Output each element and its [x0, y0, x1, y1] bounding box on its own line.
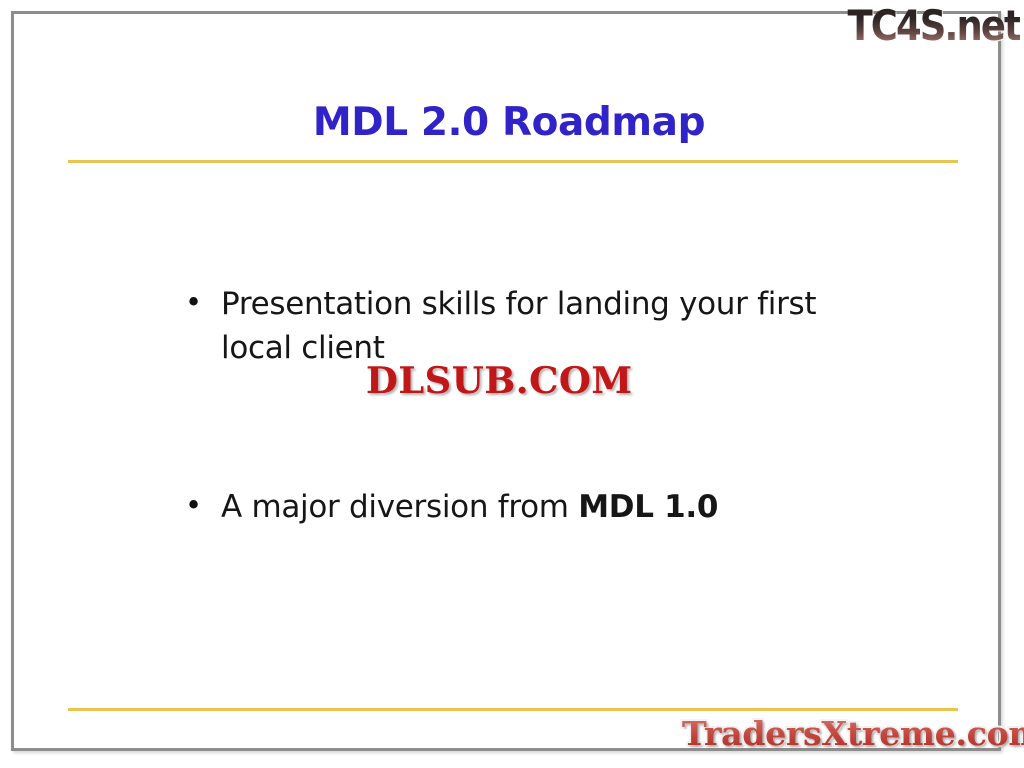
list-item: • A major diversion from MDL 1.0: [169, 485, 929, 529]
divider-bottom: [68, 708, 958, 711]
divider-top: [68, 160, 958, 163]
watermark-tc4s: TC4S.net: [848, 1, 1020, 50]
watermark-dlsub: DLSUB.COM: [366, 360, 632, 402]
bullet-marker-icon: •: [169, 485, 221, 526]
watermark-tradersxtreme: TradersXtreme.com: [682, 714, 1024, 753]
list-item: • Presentation skills for landing your f…: [169, 282, 929, 370]
slide-body: • Presentation skills for landing your f…: [169, 282, 929, 529]
list-item-text: Presentation skills for landing your fir…: [221, 282, 869, 370]
list-item-text-emphasis: MDL 1.0: [578, 489, 718, 525]
list-item-text-main: A major diversion from: [221, 489, 578, 525]
list-item-text-main: Presentation skills for landing your fir…: [221, 286, 816, 366]
page-title: MDL 2.0 Roadmap: [14, 102, 1004, 145]
list-item-text: A major diversion from MDL 1.0: [221, 485, 869, 529]
bullet-marker-icon: •: [169, 282, 221, 323]
slide-stage: MDL 2.0 Roadmap • Presentation skills fo…: [0, 0, 1024, 768]
